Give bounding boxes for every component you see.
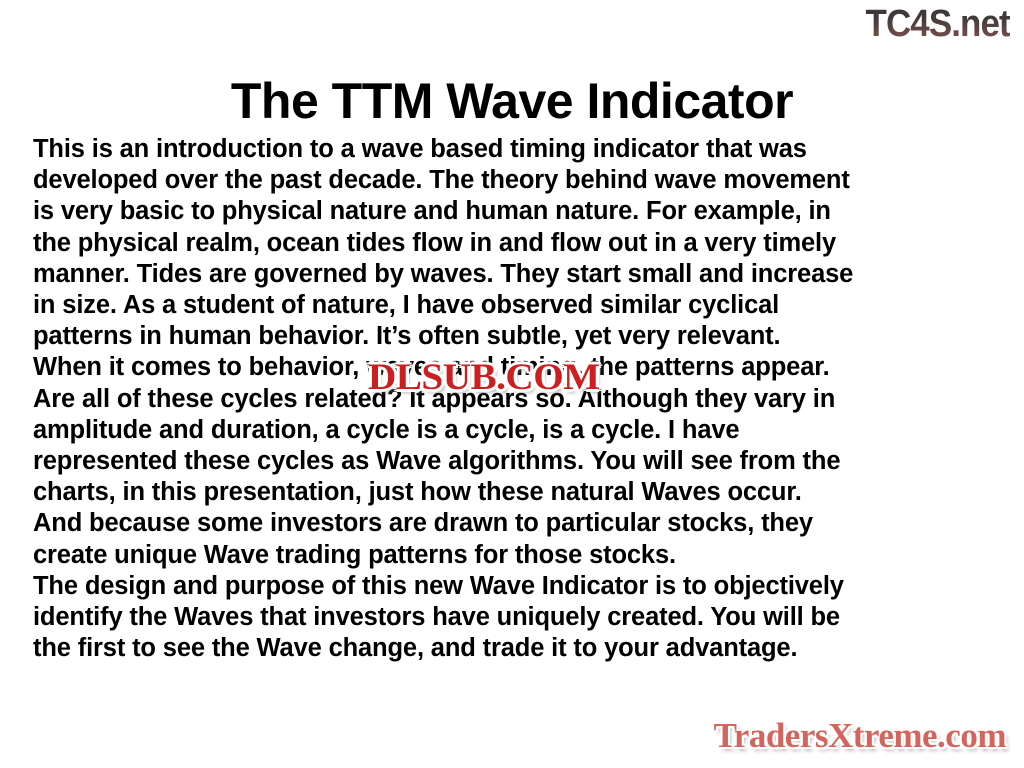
body-line: amplitude and duration, a cycle is a cyc…: [33, 415, 995, 446]
body-line: manner. Tides are governed by waves. The…: [33, 259, 995, 290]
tc4s-brand-logo: TC4S.net: [866, 2, 1010, 46]
purpose-paragraph: The design and purpose of this new Wave …: [33, 571, 995, 665]
cycles-paragraph: Are all of these cycles related? It appe…: [33, 384, 995, 571]
presentation-slide: TC4S.net The TTM Wave Indicator This is …: [0, 0, 1024, 768]
body-line: patterns in human behavior. It’s often s…: [33, 321, 995, 352]
body-line: is very basic to physical nature and hum…: [33, 196, 995, 227]
body-line: represented these cycles as Wave algorit…: [33, 446, 995, 477]
tradersxtreme-site-logo: TradersXtreme.com: [714, 716, 1006, 756]
slide-body-text: This is an introduction to a wave based …: [33, 134, 995, 664]
body-line: The design and purpose of this new Wave …: [33, 571, 995, 602]
body-line: This is an introduction to a wave based …: [33, 134, 995, 165]
body-line: in size. As a student of nature, I have …: [33, 290, 995, 321]
body-line: charts, in this presentation, just how t…: [33, 477, 995, 508]
body-line: developed over the past decade. The theo…: [33, 165, 995, 196]
body-line: the physical realm, ocean tides flow in …: [33, 228, 995, 259]
dlsub-watermark: DLSUB.COM: [368, 358, 600, 398]
body-line: And because some investors are drawn to …: [33, 508, 995, 539]
intro-paragraph: This is an introduction to a wave based …: [33, 134, 995, 384]
page-title: The TTM Wave Indicator: [0, 72, 1024, 130]
body-line: create unique Wave trading patterns for …: [33, 540, 995, 571]
body-line: identify the Waves that investors have u…: [33, 602, 995, 633]
body-line: the first to see the Wave change, and tr…: [33, 633, 995, 664]
